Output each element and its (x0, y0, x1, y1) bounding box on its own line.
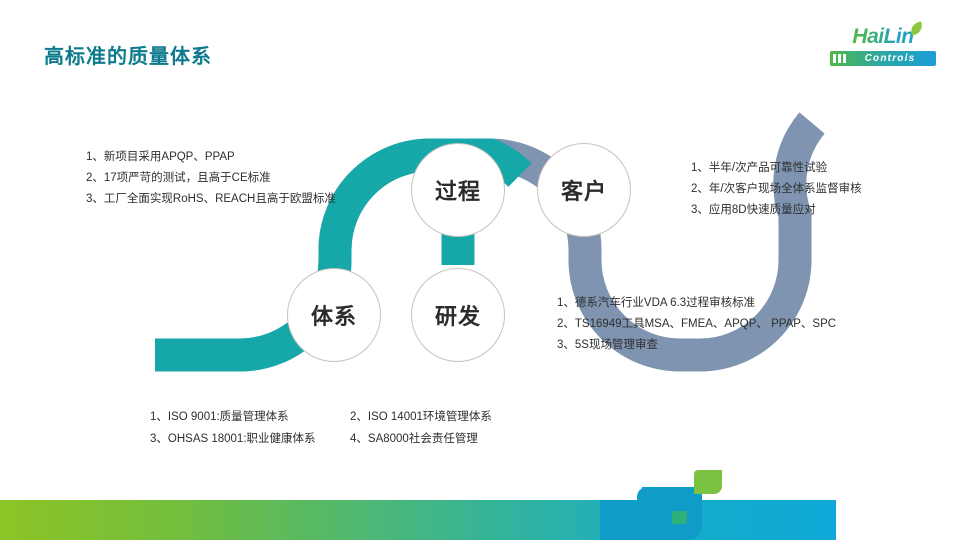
text-block-middle: 1、德系汽车行业VDA 6.3过程审核标准 2、TS16949工具MSA、FME… (557, 293, 836, 356)
process-ribbon-diagram (0, 0, 960, 540)
list-item: 2、TS16949工具MSA、FMEA、APQP、 PPAP、SPC (557, 314, 836, 335)
list-item: 3、应用8D快速质量应对 (691, 200, 862, 221)
text-block-top-left: 1、新项目采用APQP、PPAP 2、17项严苛的测试，且高于CE标准 3、工厂… (86, 147, 336, 210)
text-block-bottom: 1、ISO 9001:质量管理体系 2、ISO 14001环境管理体系 3、OH… (150, 406, 492, 450)
table-row: 3、OHSAS 18001:职业健康体系 4、SA8000社会责任管理 (150, 428, 492, 450)
hailin-logo: HaiLin Controls (824, 24, 942, 70)
list-item: 3、OHSAS 18001:职业健康体系 (150, 428, 350, 450)
logo-bars-icon (833, 54, 847, 63)
node-rd-label: 研发 (435, 299, 481, 331)
node-process[interactable]: 过程 (411, 143, 505, 237)
list-item: 1、半年/次产品可靠性试验 (691, 158, 862, 179)
list-item: 4、SA8000社会责任管理 (350, 428, 478, 450)
list-item: 2、ISO 14001环境管理体系 (350, 406, 492, 428)
slide-canvas: 高标准的质量体系 HaiLin Controls 过程 (0, 0, 960, 540)
list-item: 1、ISO 9001:质量管理体系 (150, 406, 350, 428)
table-row: 1、ISO 9001:质量管理体系 2、ISO 14001环境管理体系 (150, 406, 492, 428)
node-rd[interactable]: 研发 (411, 268, 505, 362)
node-customer-label: 客户 (561, 174, 607, 206)
node-system-label: 体系 (311, 299, 357, 331)
node-process-label: 过程 (435, 174, 481, 206)
list-item: 3、5S现场管理审查 (557, 335, 836, 356)
logo-wordmark: HaiLin (824, 24, 942, 50)
footer-green-block (694, 470, 722, 494)
text-block-right: 1、半年/次产品可靠性试验 2、年/次客户现场全体系监督审核 3、应用8D快速质… (691, 158, 862, 221)
footer-gradient-bar (0, 500, 836, 540)
page-title: 高标准的质量体系 (44, 40, 212, 69)
node-system[interactable]: 体系 (287, 268, 381, 362)
list-item: 1、德系汽车行业VDA 6.3过程审核标准 (557, 293, 836, 314)
list-item: 3、工厂全面实现RoHS、REACH且高于欧盟标准 (86, 189, 336, 210)
list-item: 2、17项严苛的测试，且高于CE标准 (86, 168, 336, 189)
node-customer[interactable]: 客户 (537, 143, 631, 237)
list-item: 1、新项目采用APQP、PPAP (86, 147, 336, 168)
footer-green-dot (672, 511, 687, 524)
list-item: 2、年/次客户现场全体系监督审核 (691, 179, 862, 200)
